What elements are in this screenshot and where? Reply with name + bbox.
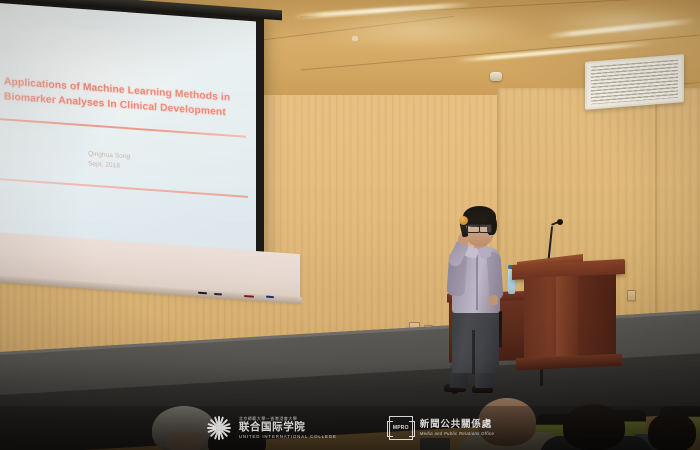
slide-title: Applications of Machine Learning Methods…: [4, 75, 240, 121]
projection-screen: Applications of Machine Learning Methods…: [0, 3, 256, 268]
gooseneck-microphone-head: [557, 219, 563, 225]
wall-outlet: [627, 290, 636, 301]
marker: [198, 292, 207, 295]
slide-divider: [0, 118, 246, 138]
audience-member-head: [478, 398, 536, 446]
eyeglasses-bridge: [477, 226, 480, 227]
slide-divider-lower: [0, 178, 248, 198]
smoke-detector-icon: [490, 72, 502, 81]
marker: [266, 296, 274, 299]
audience-member-nape: [166, 432, 204, 450]
ceiling-sensor-icon: [352, 36, 358, 41]
speaker-hand-right: [489, 295, 498, 305]
speaker-shirt-placket: [476, 254, 478, 310]
speaker-trousers: [452, 311, 499, 373]
podium-column: [556, 276, 578, 365]
slide-presenter-name: Qinghua Song: [88, 150, 130, 160]
lecture-hall-photo: Applications of Machine Learning Methods…: [0, 0, 700, 450]
slide-date: Sept, 2018: [88, 160, 120, 169]
eyeglasses-icon: [479, 224, 492, 233]
marker: [214, 293, 222, 296]
handheld-microphone-windscreen: [459, 216, 468, 225]
audience-member-head: [648, 412, 696, 450]
hvac-vent-icon: [585, 54, 684, 110]
screen-glare: [0, 3, 177, 268]
slide-presenter: Qinghua Song Sept, 2018: [88, 149, 218, 177]
marker: [244, 295, 254, 298]
laptop-screen: [420, 438, 450, 450]
vent-slats: [591, 60, 678, 105]
speaker-leg-gap: [472, 330, 475, 374]
audience-member-head: [563, 404, 625, 450]
